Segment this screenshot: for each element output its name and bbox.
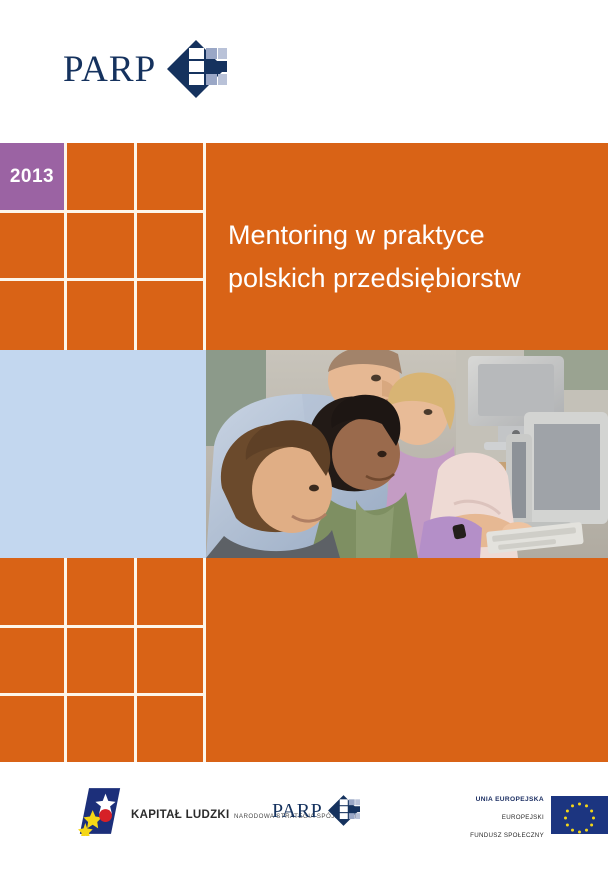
footer-logo-row: KAPITAŁ LUDZKI NARODOWA STRATEGIA SPÓJNO… xyxy=(0,786,608,848)
grid-vline-5 xyxy=(134,558,137,762)
grid-hline-1 xyxy=(0,210,206,213)
unia-europejska-line-3: FUNDUSZ SPOŁECZNY xyxy=(470,832,544,839)
cover-bottom-orange-block xyxy=(0,558,608,762)
grid-hline-2 xyxy=(0,278,206,281)
grid-vline-2 xyxy=(134,143,137,350)
eu-flag-icon xyxy=(551,796,608,834)
unia-europejska-line-2: EUROPEJSKI xyxy=(502,814,544,821)
parp-logo-footer: PARP xyxy=(272,794,360,827)
cover-photo xyxy=(206,350,608,558)
parp-wordmark: PARP xyxy=(63,51,156,88)
kapital-ludzki-title: KAPITAŁ LUDZKI xyxy=(131,809,230,821)
cover-title-line-2: polskich przedsiębiorstw xyxy=(228,257,598,300)
parp-diamond-icon-footer xyxy=(327,794,360,827)
year-badge: 2013 xyxy=(0,143,64,210)
unia-europejska-logo: UNIA EUROPEJSKA EUROPEJSKI FUNDUSZ SPOŁE… xyxy=(437,788,608,842)
parp-logo-header: PARP xyxy=(63,38,243,100)
kapital-ludzki-emblem-icon xyxy=(78,786,122,841)
parp-diamond-icon xyxy=(165,38,227,100)
grid-hline-3 xyxy=(0,625,206,628)
grid-vline-6 xyxy=(203,558,206,762)
grid-vline-3 xyxy=(203,143,206,350)
parp-wordmark-footer: PARP xyxy=(272,801,322,821)
grid-vline-1 xyxy=(64,143,67,350)
cover-title-line-1: Mentoring w praktyce xyxy=(228,214,598,257)
grid-vline-4 xyxy=(64,558,67,762)
unia-europejska-text: UNIA EUROPEJSKA EUROPEJSKI FUNDUSZ SPOŁE… xyxy=(437,788,544,842)
unia-europejska-line-1: UNIA EUROPEJSKA xyxy=(476,796,544,803)
cover-title: Mentoring w praktyce polskich przedsiębi… xyxy=(228,214,598,300)
grid-hline-4 xyxy=(0,693,206,696)
